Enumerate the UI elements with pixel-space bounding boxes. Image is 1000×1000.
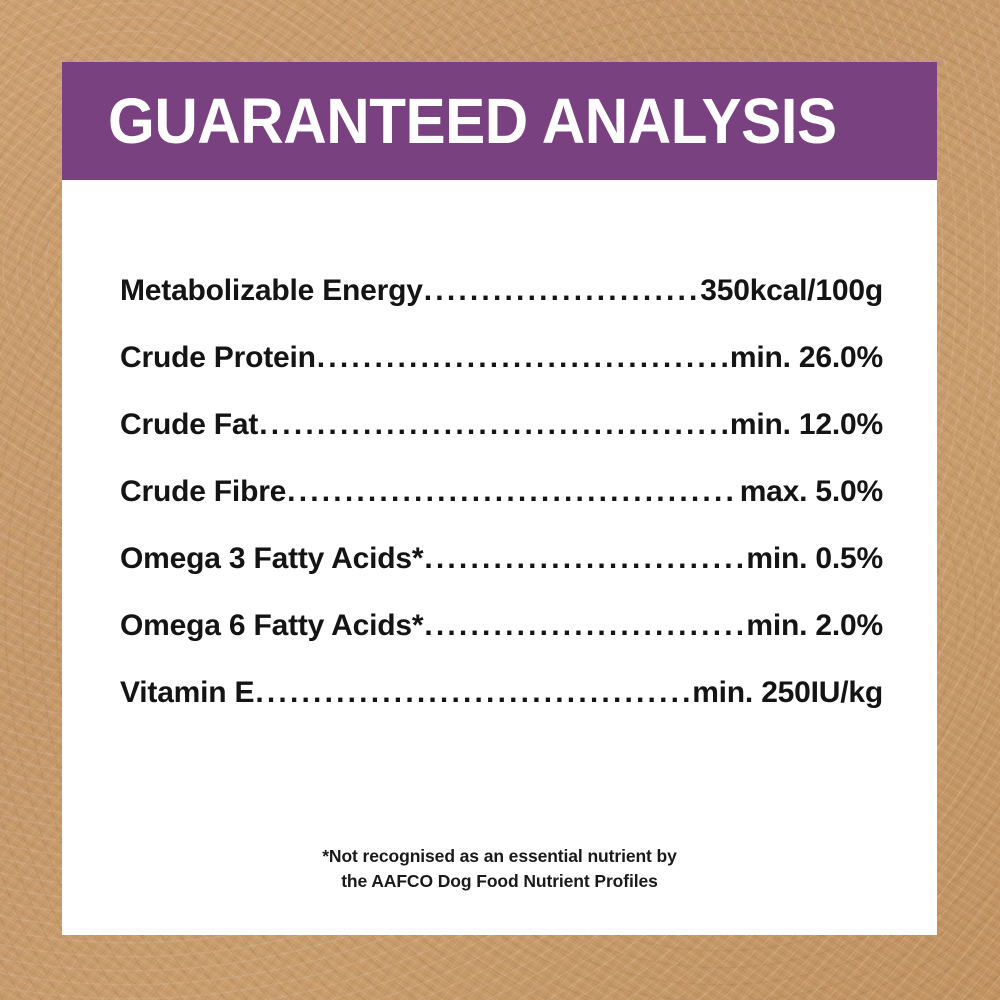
nutrient-label: Crude Fibre xyxy=(120,475,286,509)
dot-leader xyxy=(424,276,699,306)
nutrient-label: Vitamin E xyxy=(120,676,254,710)
footnote-line-1: *Not recognised as an essential nutrient… xyxy=(62,844,937,869)
guaranteed-analysis-card: GUARANTEED ANALYSIS Metabolizable Energy… xyxy=(62,62,937,935)
list-item: Crude Fat min. 12.0% xyxy=(120,408,883,475)
nutrient-label: Crude Protein xyxy=(120,341,316,375)
dot-leader xyxy=(424,611,745,641)
dot-leader xyxy=(255,678,691,708)
nutrient-value: min. 26.0% xyxy=(730,341,883,375)
header-banner: GUARANTEED ANALYSIS xyxy=(62,62,937,180)
list-item: Omega 3 Fatty Acids* min. 0.5% xyxy=(120,542,883,609)
nutrient-label: Crude Fat xyxy=(120,408,258,442)
dot-leader xyxy=(259,410,729,440)
nutrient-value: min. 2.0% xyxy=(746,609,883,643)
label-background: GUARANTEED ANALYSIS Metabolizable Energy… xyxy=(0,0,1000,1000)
dot-leader xyxy=(317,343,729,373)
nutrient-value: 350kcal/100g xyxy=(700,274,883,308)
dot-leader xyxy=(424,544,745,574)
list-item: Crude Protein min. 26.0% xyxy=(120,341,883,408)
nutrient-value: min. 250IU/kg xyxy=(692,676,883,710)
footnote-line-2: the AAFCO Dog Food Nutrient Profiles xyxy=(62,869,937,894)
list-item: Metabolizable Energy 350kcal/100g xyxy=(120,274,883,341)
dot-leader xyxy=(287,477,739,507)
nutrient-list: Metabolizable Energy 350kcal/100g Crude … xyxy=(120,274,883,743)
list-item: Crude Fibre max. 5.0% xyxy=(120,475,883,542)
nutrient-value: min. 0.5% xyxy=(746,542,883,576)
nutrient-label: Omega 6 Fatty Acids* xyxy=(120,609,423,643)
nutrient-label: Metabolizable Energy xyxy=(120,274,423,308)
page-title: GUARANTEED ANALYSIS xyxy=(108,89,837,153)
nutrient-label: Omega 3 Fatty Acids* xyxy=(120,542,423,576)
nutrient-value: max. 5.0% xyxy=(740,475,883,509)
list-item: Vitamin E min. 250IU/kg xyxy=(120,676,883,743)
footnote: *Not recognised as an essential nutrient… xyxy=(62,844,937,894)
list-item: Omega 6 Fatty Acids* min. 2.0% xyxy=(120,609,883,676)
nutrient-value: min. 12.0% xyxy=(730,408,883,442)
